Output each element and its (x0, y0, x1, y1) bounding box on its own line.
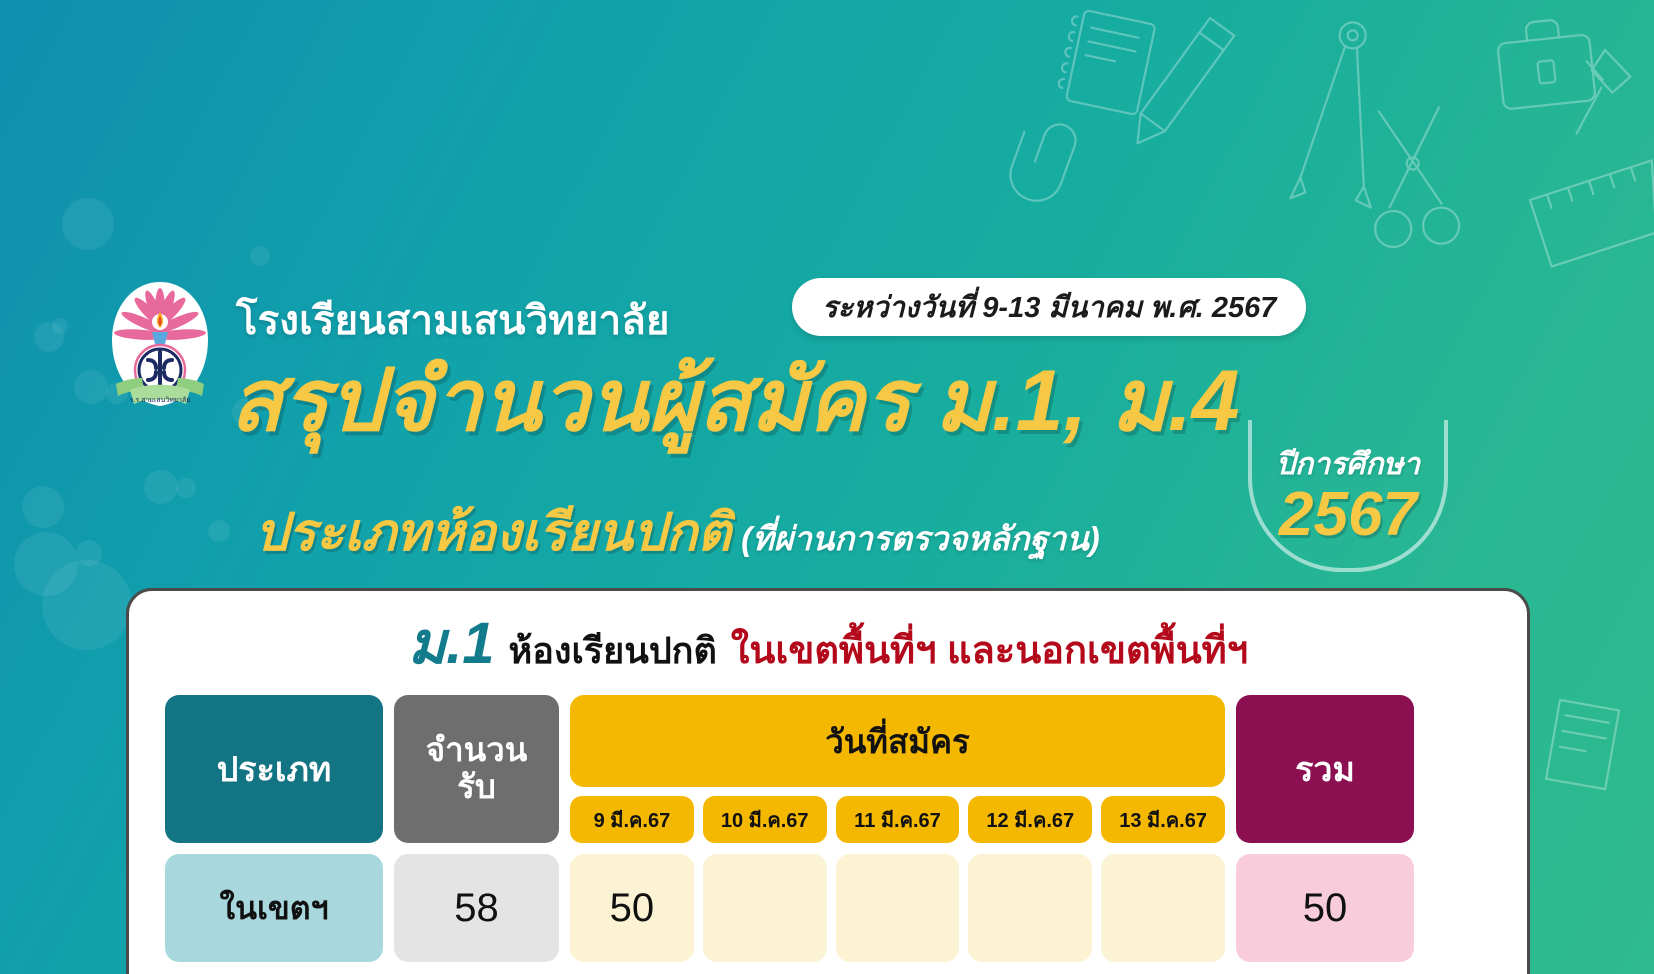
header-cell-type: ประเภท (165, 695, 383, 843)
header-date-1: 9 มี.ค.67 (570, 796, 694, 843)
row-total: 50 (1236, 854, 1414, 962)
section-heading: ม.1 ห้องเรียนปกติ ในเขตพื้นที่ฯ และนอกเข… (129, 615, 1527, 673)
table-row: ในเขตฯ 58 50 50 (165, 854, 1495, 962)
row-daily-3 (836, 854, 960, 962)
academic-year-label: ปีการศึกษา (1276, 450, 1420, 480)
section-level: ม.1 (408, 615, 495, 673)
row-daily-5 (1101, 854, 1225, 962)
subtitle-row: ประเภทห้องเรียนปกติ (ที่ผ่านการตรวจหลักฐ… (255, 490, 1100, 573)
academic-year-shield: ปีการศึกษา 2567 (1248, 420, 1448, 572)
header-dates-subrow: 9 มี.ค.67 10 มี.ค.67 11 มี.ค.67 12 มี.ค.… (570, 796, 1225, 843)
section-classroom-type: ห้องเรียนปกติ (509, 633, 717, 669)
header-cell-quota-line1: จำนวน (426, 732, 528, 769)
header-date-4: 12 มี.ค.67 (968, 796, 1092, 843)
results-card: ม.1 ห้องเรียนปกติ ในเขตพื้นที่ฯ และนอกเข… (126, 588, 1530, 974)
school-emblem-icon: ร.ร.สามเสนวิทยาลัย (100, 278, 220, 410)
row-daily-4 (968, 854, 1092, 962)
poster-root: ร.ร.สามเสนวิทยาลัย โรงเรียนสามเสนวิทยาลั… (0, 0, 1654, 974)
date-range-badge: ระหว่างวันที่ 9-13 มีนาคม พ.ศ. 2567 (792, 278, 1306, 336)
header-cell-total: รวม (1236, 695, 1414, 843)
page-title: สรุปจำนวนผู้สมัคร ม.1, ม.4 (230, 358, 1240, 444)
header-cell-quota: จำนวน รับ (394, 695, 559, 843)
header-date-5: 13 มี.ค.67 (1101, 796, 1225, 843)
poster-header: ร.ร.สามเสนวิทยาลัย โรงเรียนสามเสนวิทยาลั… (0, 0, 1654, 590)
applicants-table: ประเภท จำนวน รับ วันที่สมัคร 9 มี.ค.67 1… (165, 695, 1495, 962)
header-cell-dates-group: วันที่สมัคร 9 มี.ค.67 10 มี.ค.67 11 มี.ค… (570, 695, 1225, 843)
book-icon (1546, 700, 1619, 789)
subtitle-classroom-type: ประเภทห้องเรียนปกติ (255, 490, 731, 573)
date-range-text: ระหว่างวันที่ 9-13 มีนาคม พ.ศ. 2567 (822, 284, 1276, 330)
header-date-3: 11 มี.ค.67 (836, 796, 960, 843)
row-daily-2 (703, 854, 827, 962)
section-area-scope: ในเขตพื้นที่ฯ และนอกเขตพื้นที่ฯ (731, 632, 1248, 670)
row-quota: 58 (394, 854, 559, 962)
subtitle-note: (ที่ผ่านการตรวจหลักฐาน) (741, 512, 1100, 565)
header-cell-quota-line2: รับ (426, 769, 528, 806)
header-date-2: 10 มี.ค.67 (703, 796, 827, 843)
row-type: ในเขตฯ (165, 854, 383, 962)
row-daily-1: 50 (570, 854, 694, 962)
header-dates-group-label: วันที่สมัคร (570, 695, 1225, 787)
row-daily-cells: 50 (570, 854, 1225, 962)
academic-year-value: 2567 (1279, 484, 1417, 546)
school-name: โรงเรียนสามเสนวิทยาลัย (236, 288, 670, 352)
table-header-row: ประเภท จำนวน รับ วันที่สมัคร 9 มี.ค.67 1… (165, 695, 1495, 843)
svg-text:ร.ร.สามเสนวิทยาลัย: ร.ร.สามเสนวิทยาลัย (130, 396, 191, 404)
